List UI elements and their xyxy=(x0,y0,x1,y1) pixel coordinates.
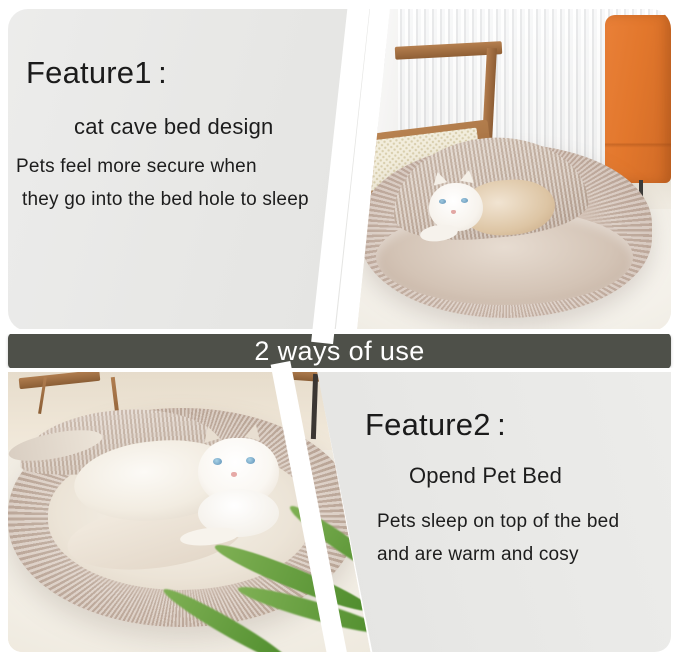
two-ways-banner: 2 ways of use xyxy=(8,333,671,369)
feature2-line-1: Pets sleep on top of the bed xyxy=(377,511,619,533)
feature1-title: Feature1 : xyxy=(26,55,167,91)
feature1-panel: Feature1 : cat cave bed design Pets feel… xyxy=(8,9,370,331)
feature2-title: Feature2 : xyxy=(365,407,506,443)
banner-label: 2 ways of use xyxy=(254,338,424,365)
cat-ear-right xyxy=(460,169,476,183)
feature2-panel: Feature2 : Opend Pet Bed Pets sleep on t… xyxy=(309,371,671,652)
feature1-line-2: they go into the bed hole to sleep xyxy=(22,189,309,211)
infographic-canvas: Feature1 : cat cave bed design Pets feel… xyxy=(0,0,679,663)
sofa-seam xyxy=(605,15,671,182)
cat-head xyxy=(429,183,482,231)
banner-gap-bottom xyxy=(0,368,679,372)
banner-gap-top xyxy=(0,329,679,334)
feature1-line-1: Pets feel more secure when xyxy=(16,156,257,178)
cave-bed-photo xyxy=(357,9,671,331)
feature2-line-2: and are warm and cosy xyxy=(377,544,579,566)
feature2-subtitle: Opend Pet Bed xyxy=(409,463,562,489)
cat-eye-right xyxy=(246,457,255,464)
feature1-text-group: Feature1 : cat cave bed design Pets feel… xyxy=(8,9,370,331)
cat-eye-right xyxy=(461,198,468,203)
feature1-subtitle: cat cave bed design xyxy=(74,114,274,140)
